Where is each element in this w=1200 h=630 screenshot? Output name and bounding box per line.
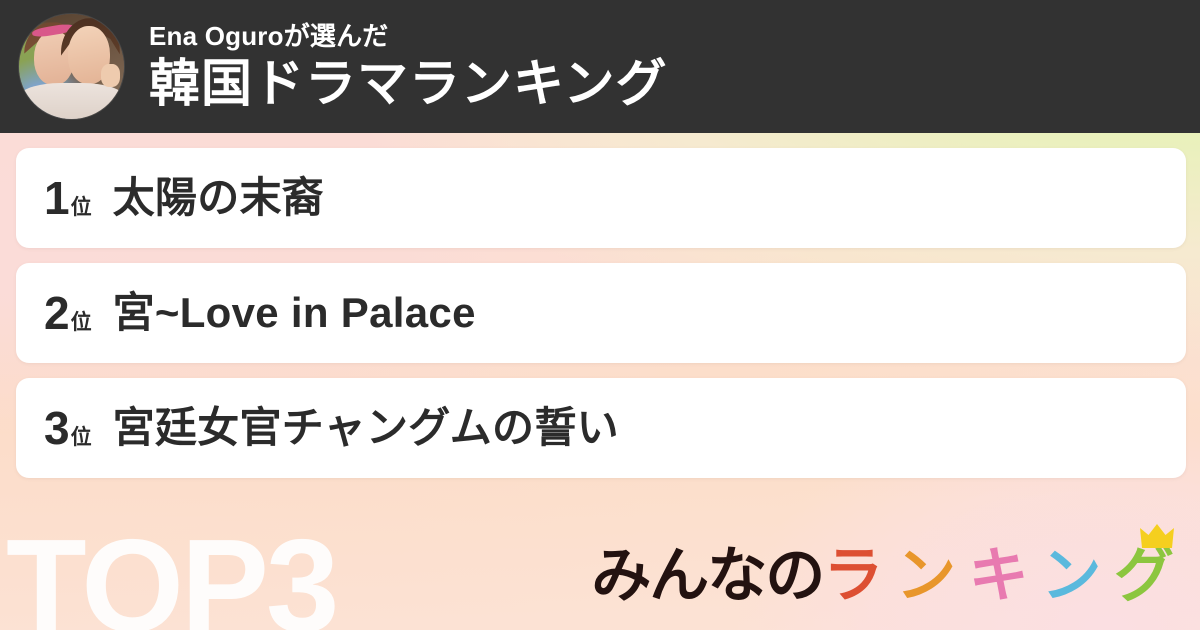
crown-icon — [1140, 524, 1174, 550]
rank-badge-2: 2 位 — [44, 290, 92, 336]
site-logo-char-gu: グ — [1114, 547, 1172, 606]
rank-badge-1: 1 位 — [44, 175, 92, 221]
ranking-share-card: Ena Oguroが選んだ 韓国ドラマランキング 1 位 太陽の末裔 2 位 宮… — [0, 0, 1200, 630]
rank-unit-3: 位 — [71, 427, 92, 448]
site-logo-ranking-kana: ラ ン キ ン グ — [823, 547, 1172, 606]
site-logo-minna: みんなの — [591, 547, 823, 606]
rank-number-1: 1 — [44, 175, 69, 221]
header-bar: Ena Oguroが選んだ 韓国ドラマランキング — [0, 0, 1200, 133]
header-text-block: Ena Oguroが選んだ 韓国ドラマランキング — [149, 22, 667, 111]
ranking-item-1[interactable]: 1 位 太陽の末裔 — [16, 148, 1186, 248]
ranking-item-title-3: 宮廷女官チャングムの誓い — [113, 407, 619, 449]
site-logo-char-n1: ン — [896, 547, 954, 606]
ranking-item-3[interactable]: 3 位 宮廷女官チャングムの誓い — [16, 378, 1186, 478]
avatar-clothing — [19, 83, 124, 119]
ranking-item-title-2: 宮~Love in Palace — [113, 292, 476, 334]
site-logo-char-ra: ラ — [823, 547, 881, 606]
rank-number-3: 3 — [44, 405, 69, 451]
page-title: 韓国ドラマランキング — [149, 57, 667, 111]
top3-watermark: TOP3 — [6, 520, 336, 630]
rank-badge-3: 3 位 — [44, 405, 92, 451]
rank-number-2: 2 — [44, 290, 69, 336]
site-logo-wordmark: みんなの ラ ン キ ン グ — [591, 547, 1172, 606]
ranking-item-2[interactable]: 2 位 宮~Love in Palace — [16, 263, 1186, 363]
avatar — [19, 14, 124, 119]
avatar-hand — [101, 64, 120, 87]
site-logo-char-ki: キ — [969, 547, 1027, 606]
ranking-list: 1 位 太陽の末裔 2 位 宮~Love in Palace 3 位 宮廷女官チ… — [16, 148, 1186, 493]
header-subtitle: Ena Oguroが選んだ — [149, 22, 667, 51]
ranking-item-title-1: 太陽の末裔 — [113, 177, 325, 219]
site-logo-char-n2: ン — [1041, 547, 1099, 606]
rank-unit-1: 位 — [71, 197, 92, 218]
rank-unit-2: 位 — [71, 312, 92, 333]
site-logo[interactable]: みんなの ラ ン キ ン グ — [591, 536, 1172, 606]
